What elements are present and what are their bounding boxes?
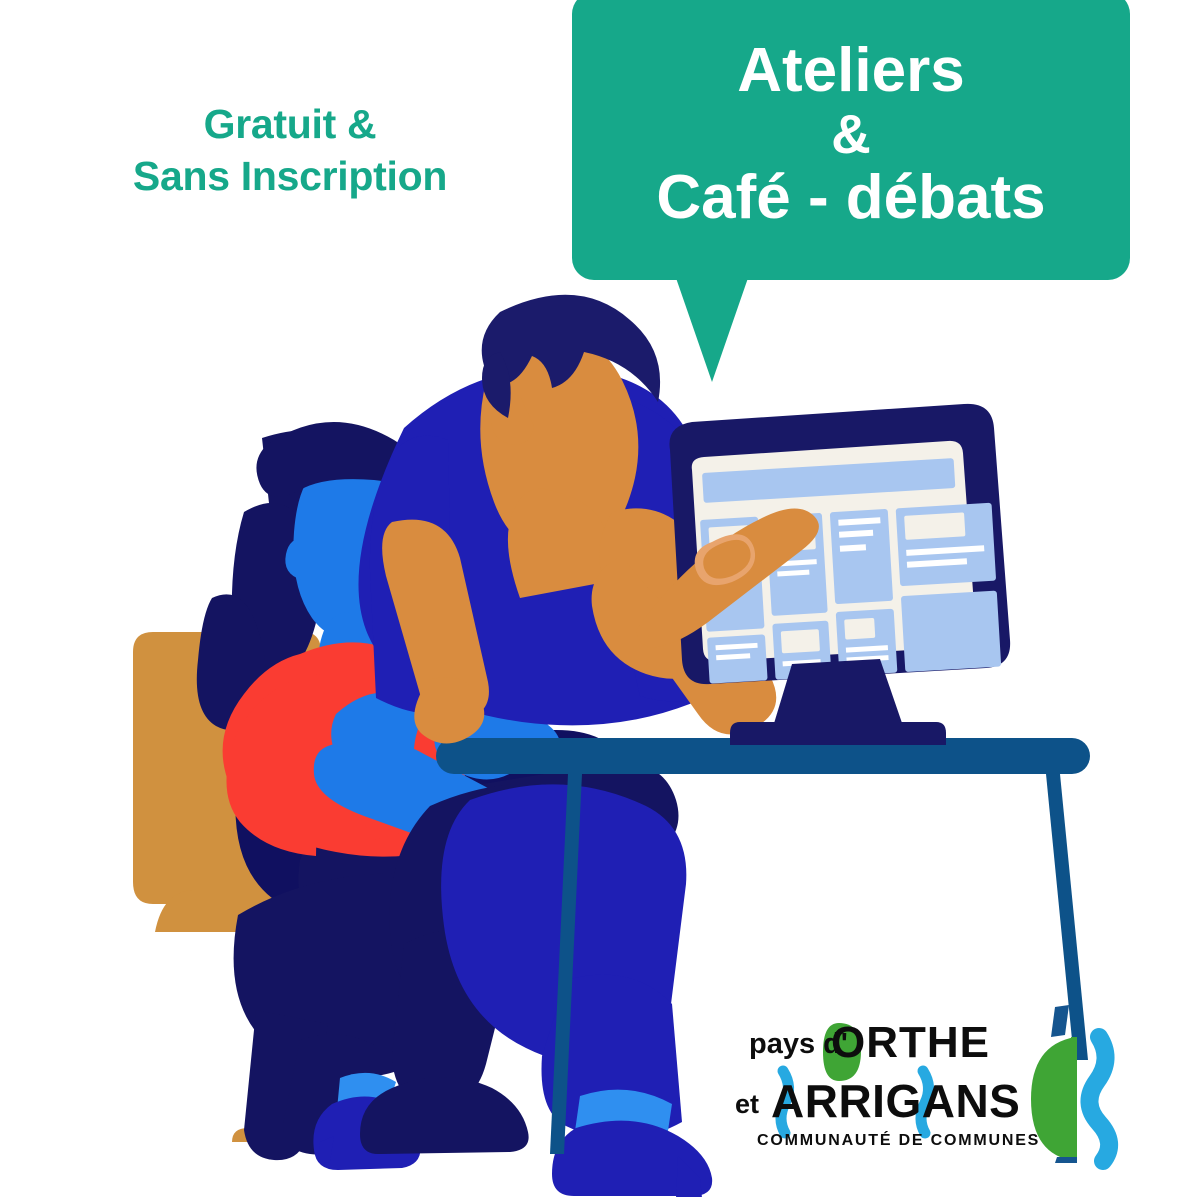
logo-tagline: COMMUNAUTÉ DE COMMUNES — [757, 1130, 1040, 1149]
logo-line2-prefix: et — [735, 1089, 759, 1119]
poster-root: Gratuit & Sans Inscription Ateliers & Ca… — [0, 0, 1200, 1197]
logo-emblem-river — [1089, 1037, 1109, 1161]
logo-stem — [1051, 1005, 1069, 1037]
tagline-block: Gratuit & Sans Inscription — [55, 98, 525, 203]
logo-line1-main: ORTHE — [831, 1018, 990, 1067]
speech-bubble-tail — [676, 278, 748, 382]
bubble-line-2: & — [831, 106, 871, 162]
logo-line2-main: ARRIGANS — [771, 1075, 1020, 1127]
bubble-line-3: Café - débats — [656, 166, 1045, 229]
speech-bubble: Ateliers & Café - débats — [572, 0, 1130, 280]
tagline-line-1: Gratuit & — [55, 98, 525, 150]
logo-pays-orthe-arrigans: pays d' ORTHE et ARRIGANS COMMUNAUTÉ DE … — [735, 1005, 1165, 1170]
tagline-line-2: Sans Inscription — [55, 150, 525, 202]
bubble-line-1: Ateliers — [737, 39, 964, 102]
